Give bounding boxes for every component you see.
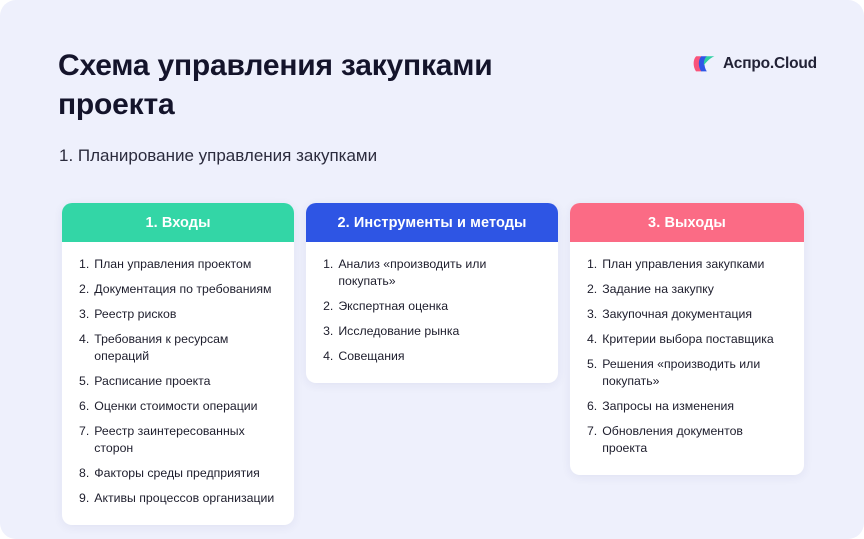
list-item: 9.Активы процессов организации xyxy=(79,490,278,507)
item-label: Запросы на изменения xyxy=(602,398,788,415)
list-item: 8.Факторы среды предприятия xyxy=(79,465,278,482)
card-outputs: 3. Выходы 1.План управления закупками 2.… xyxy=(570,203,804,475)
item-number: 1. xyxy=(323,256,333,290)
item-label: Решения «производить или покупать» xyxy=(602,356,788,390)
item-label: Исследование рынка xyxy=(338,323,542,340)
item-number: 3. xyxy=(323,323,333,340)
page-title: Схема управления закупками проекта xyxy=(58,46,598,124)
aspro-cloud-logo-icon xyxy=(692,54,716,74)
item-number: 7. xyxy=(587,423,597,457)
card-inputs-header: 1. Входы xyxy=(62,203,294,242)
item-number: 6. xyxy=(587,398,597,415)
card-tools-and-methods: 2. Инструменты и методы 1.Анализ «произв… xyxy=(306,203,558,383)
item-label: Закупочная документация xyxy=(602,306,788,323)
item-label: Реестр рисков xyxy=(94,306,278,323)
brand-name: Аспро.Cloud xyxy=(723,55,817,73)
item-number: 5. xyxy=(79,373,89,390)
item-label: Активы процессов организации xyxy=(94,490,278,507)
item-label: Экспертная оценка xyxy=(338,298,542,315)
list-item: 4.Совещания xyxy=(323,348,542,365)
list-item: 7.Обновления документов проекта xyxy=(587,423,788,457)
list-item: 7.Реестр заинтересованных сторон xyxy=(79,423,278,457)
list-item: 5.Расписание проекта xyxy=(79,373,278,390)
list-item: 6.Оценки стоимости операции xyxy=(79,398,278,415)
list-item: 2.Экспертная оценка xyxy=(323,298,542,315)
item-number: 4. xyxy=(587,331,597,348)
list-item: 1.План управления закупками xyxy=(587,256,788,273)
item-number: 2. xyxy=(587,281,597,298)
item-label: Совещания xyxy=(338,348,542,365)
card-outputs-list: 1.План управления закупками 2.Задание на… xyxy=(570,242,804,475)
list-item: 3.Исследование рынка xyxy=(323,323,542,340)
item-label: Критерии выбора поставщика xyxy=(602,331,788,348)
item-number: 9. xyxy=(79,490,89,507)
item-label: Документация по требованиям xyxy=(94,281,278,298)
cards-row: 1. Входы 1.План управления проектом 2.До… xyxy=(62,203,804,525)
item-label: Требования к ресурсам операций xyxy=(94,331,278,365)
item-number: 2. xyxy=(79,281,89,298)
item-label: Анализ «производить или покупать» xyxy=(338,256,542,290)
item-label: План управления проектом xyxy=(94,256,278,273)
item-number: 4. xyxy=(79,331,89,365)
list-item: 2.Задание на закупку xyxy=(587,281,788,298)
brand-logo: Аспро.Cloud xyxy=(692,54,817,74)
list-item: 3.Реестр рисков xyxy=(79,306,278,323)
card-outputs-header: 3. Выходы xyxy=(570,203,804,242)
card-tools-and-methods-header: 2. Инструменты и методы xyxy=(306,203,558,242)
item-number: 4. xyxy=(323,348,333,365)
list-item: 1.Анализ «производить или покупать» xyxy=(323,256,542,290)
item-number: 6. xyxy=(79,398,89,415)
item-number: 7. xyxy=(79,423,89,457)
card-inputs-list: 1.План управления проектом 2.Документаци… xyxy=(62,242,294,525)
item-label: Задание на закупку xyxy=(602,281,788,298)
item-label: Факторы среды предприятия xyxy=(94,465,278,482)
item-label: Оценки стоимости операции xyxy=(94,398,278,415)
item-label: Обновления документов проекта xyxy=(602,423,788,457)
item-label: Расписание проекта xyxy=(94,373,278,390)
item-number: 3. xyxy=(587,306,597,323)
item-label: План управления закупками xyxy=(602,256,788,273)
list-item: 2.Документация по требованиям xyxy=(79,281,278,298)
list-item: 5.Решения «производить или покупать» xyxy=(587,356,788,390)
list-item: 6.Запросы на изменения xyxy=(587,398,788,415)
list-item: 3.Закупочная документация xyxy=(587,306,788,323)
list-item: 4.Критерии выбора поставщика xyxy=(587,331,788,348)
item-label: Реестр заинтересованных сторон xyxy=(94,423,278,457)
list-item: 1.План управления проектом xyxy=(79,256,278,273)
card-tools-and-methods-list: 1.Анализ «производить или покупать» 2.Эк… xyxy=(306,242,558,383)
item-number: 8. xyxy=(79,465,89,482)
list-item: 4.Требования к ресурсам операций xyxy=(79,331,278,365)
infographic-page: Схема управления закупками проекта 1. Пл… xyxy=(0,0,864,539)
page-subtitle: 1. Планирование управления закупками xyxy=(59,144,377,168)
item-number: 2. xyxy=(323,298,333,315)
item-number: 1. xyxy=(79,256,89,273)
item-number: 5. xyxy=(587,356,597,390)
card-inputs: 1. Входы 1.План управления проектом 2.До… xyxy=(62,203,294,525)
item-number: 3. xyxy=(79,306,89,323)
item-number: 1. xyxy=(587,256,597,273)
